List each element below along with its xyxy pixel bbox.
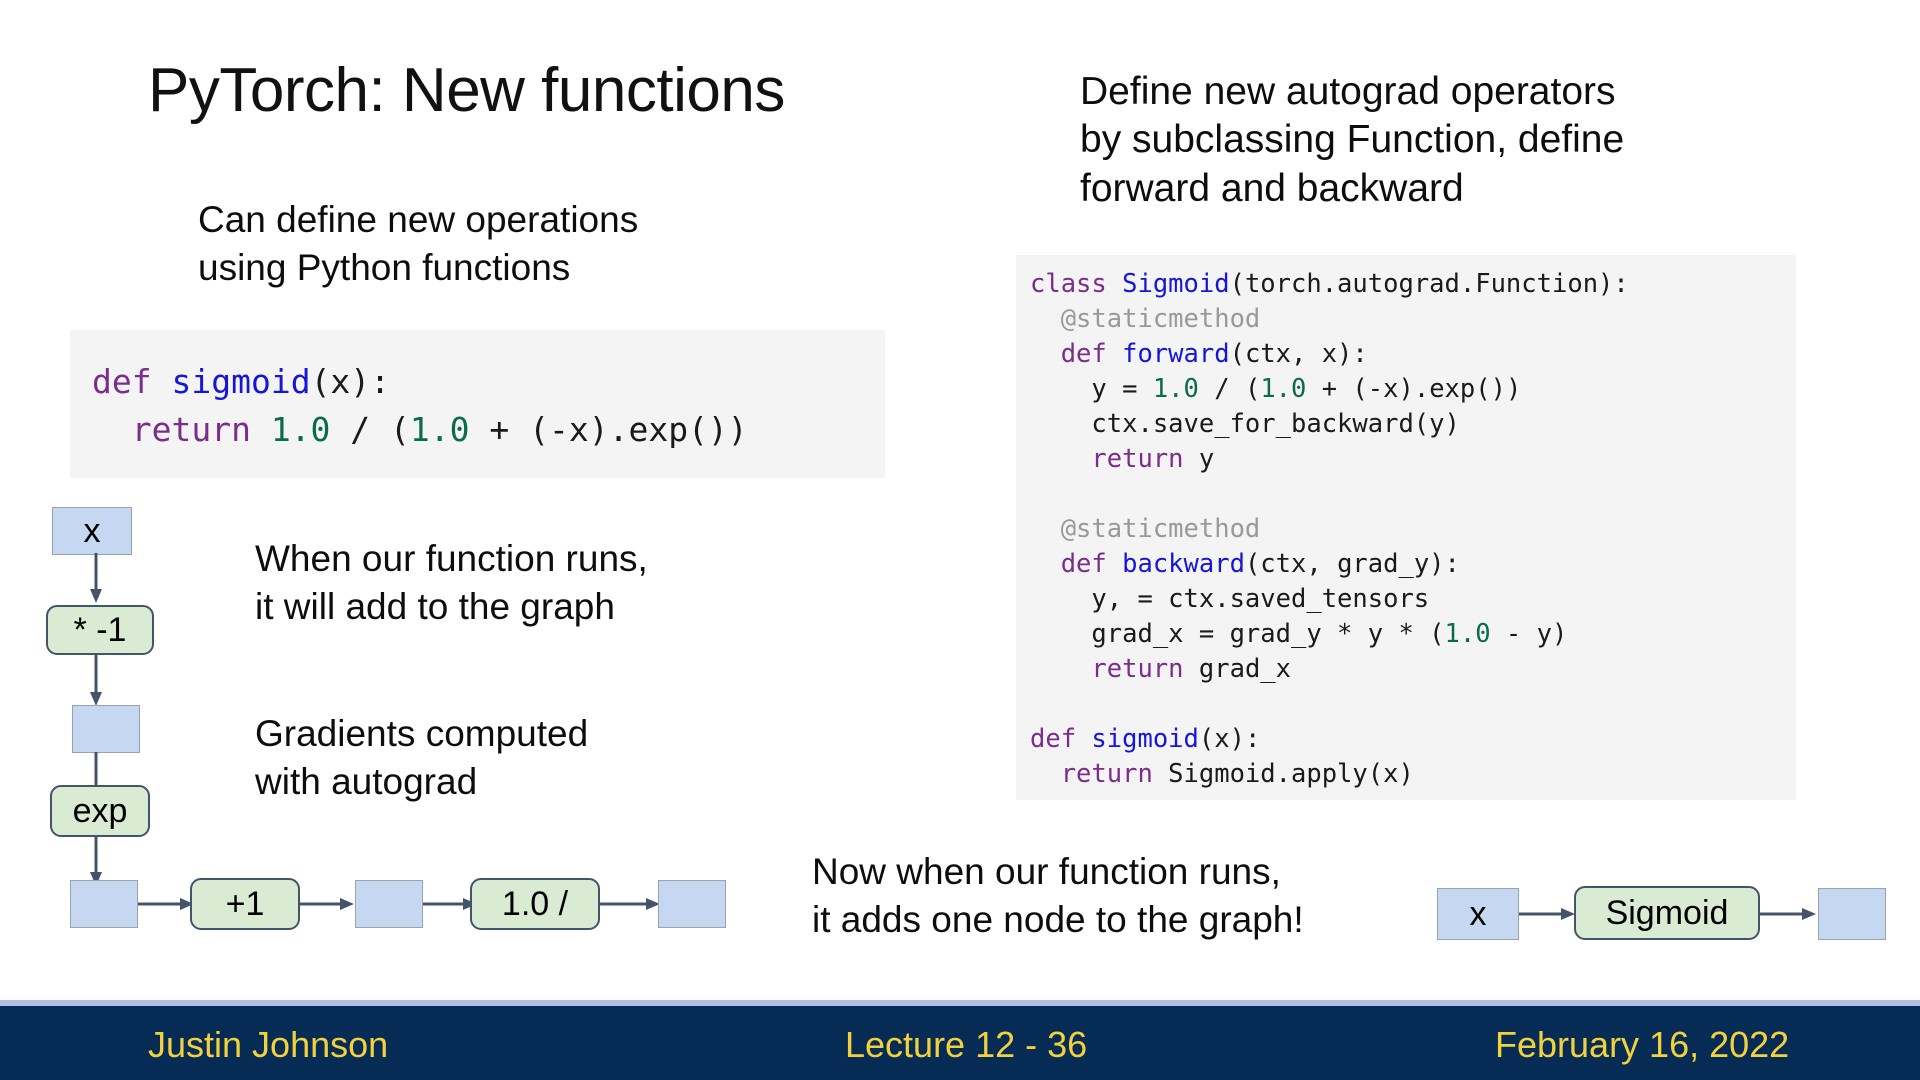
code-block-autograd-sigmoid: class Sigmoid(torch.autograd.Function): … bbox=[1016, 255, 1796, 800]
text-define-autograd-operators: Define new autograd operators by subclas… bbox=[1080, 68, 1624, 213]
graph-edge-mul-to-t1 bbox=[88, 654, 104, 708]
graph-edge-recip-to-t4 bbox=[600, 896, 662, 912]
graph-node-sigmoid: Sigmoid bbox=[1574, 886, 1760, 940]
text-now-when-function-runs: Now when our function runs, it adds one … bbox=[812, 848, 1304, 944]
graph-node-tensor-1 bbox=[72, 705, 140, 753]
graph-node-tensor-2 bbox=[70, 880, 138, 928]
footer-date: February 16, 2022 bbox=[1495, 1024, 1789, 1066]
graph-node-x-sigmoid: x bbox=[1437, 888, 1519, 940]
graph-node-tensor-4 bbox=[658, 880, 726, 928]
graph-edge-plus1-to-t3 bbox=[300, 896, 356, 912]
graph-edge-x-to-mul bbox=[88, 553, 104, 605]
graph-node-reciprocal: 1.0 / bbox=[470, 878, 600, 930]
text-when-function-runs: When our function runs, it will add to t… bbox=[255, 535, 648, 631]
graph-edge-sigmoid-to-out bbox=[1760, 906, 1818, 922]
slide-canvas: PyTorch: New functions Can define new op… bbox=[0, 0, 1920, 1080]
graph-edge-t2-to-plus1 bbox=[138, 896, 196, 912]
page-title: PyTorch: New functions bbox=[148, 58, 785, 125]
graph-node-x: x bbox=[52, 507, 132, 555]
graph-node-sigmoid-output bbox=[1818, 888, 1886, 940]
footer-lecture-number: Lecture 12 - 36 bbox=[845, 1024, 1087, 1066]
text-can-define-operations: Can define new operations using Python f… bbox=[198, 196, 638, 292]
footer-author: Justin Johnson bbox=[148, 1024, 388, 1066]
graph-node-mul-neg1: * -1 bbox=[46, 605, 154, 655]
code-block-python-sigmoid: def sigmoid(x): return 1.0 / (1.0 + (-x)… bbox=[70, 330, 885, 478]
text-gradients-computed: Gradients computed with autograd bbox=[255, 710, 588, 806]
graph-edge-x-to-sigmoid bbox=[1519, 906, 1577, 922]
graph-node-exp: exp bbox=[50, 785, 150, 837]
graph-node-tensor-3 bbox=[355, 880, 423, 928]
graph-node-plus1: +1 bbox=[190, 878, 300, 930]
